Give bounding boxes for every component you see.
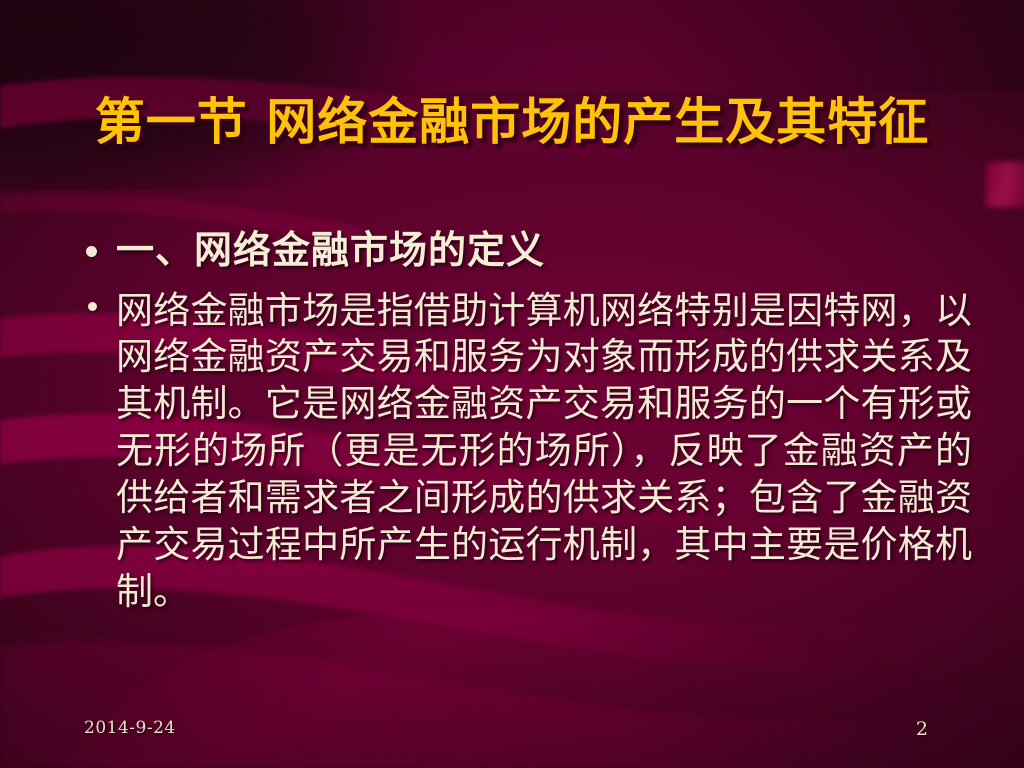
bullet-point-icon — [72, 246, 116, 257]
slide-content-body: 一、网络金融市场的定义 网络金融市场是指借助计算机网络特别是因特网，以网络金融资… — [72, 226, 972, 616]
slide-title: 第一节 网络金融市场的产生及其特征 — [0, 96, 1024, 149]
bullet-point-icon — [72, 302, 116, 311]
bullet-item-paragraph: 网络金融市场是指借助计算机网络特别是因特网，以网络金融资产交易和服务为对象而形成… — [72, 288, 972, 617]
definition-paragraph-text: 网络金融市场是指借助计算机网络特别是因特网，以网络金融资产交易和服务为对象而形成… — [116, 288, 972, 617]
bullet-item-heading: 一、网络金融市场的定义 — [72, 226, 972, 274]
section-heading-text: 一、网络金融市场的定义 — [116, 226, 545, 274]
slide-footer-date: 2014-9-24 — [84, 718, 176, 738]
slide-page-number: 2 — [916, 718, 928, 740]
accent-ribbon-highlight — [986, 162, 1024, 207]
presentation-slide: 第一节 网络金融市场的产生及其特征 一、网络金融市场的定义 网络金融市场是指借助… — [0, 0, 1024, 768]
